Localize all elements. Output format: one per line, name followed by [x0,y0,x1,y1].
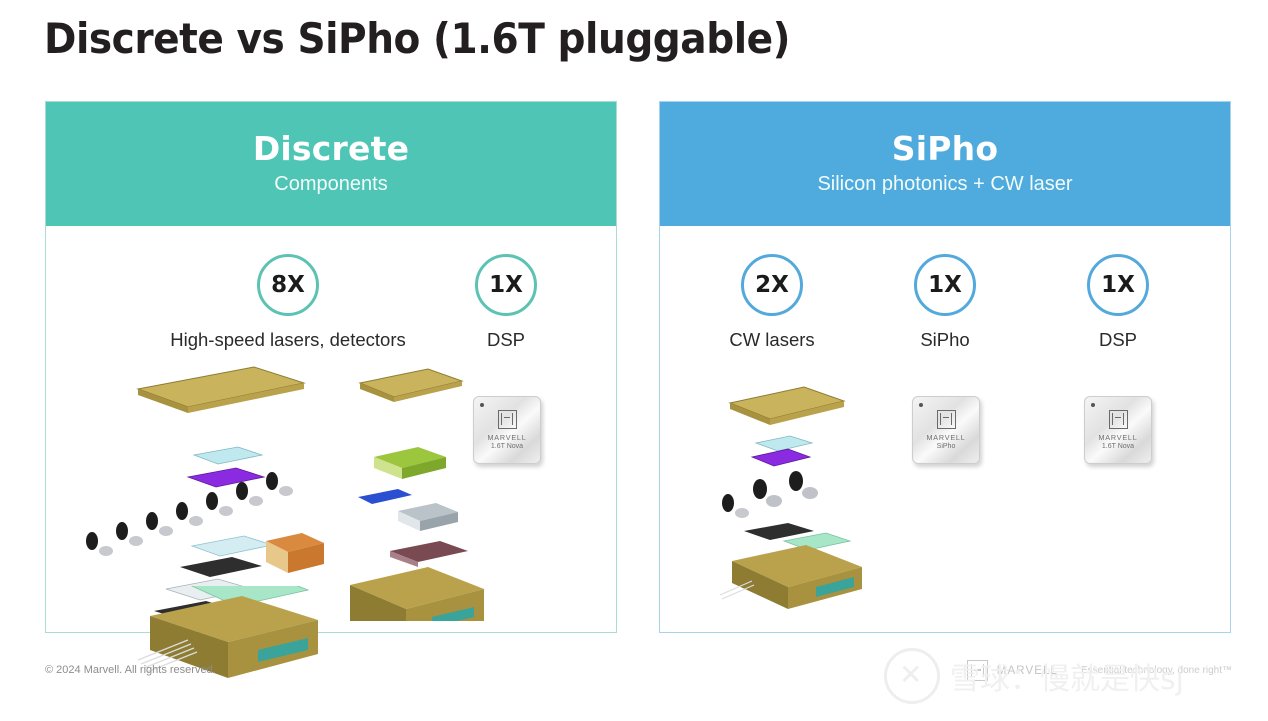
illustration-discrete-housing [136,586,336,696]
multiplier-badge-1x-dsp-sipho: 1X [1087,254,1149,316]
chip-brand: MARVELL [1098,433,1137,442]
multiplier-badge-1x-sipho: 1X [914,254,976,316]
panel-sipho-header: SiPho Silicon photonics + CW laser [660,102,1230,226]
column-sipho-dsp: 1X DSP [998,254,1238,351]
marvell-logo-icon [1109,410,1128,429]
column-label-dsp-sipho: DSP [998,329,1238,351]
panel-discrete: Discrete Components 8X High-speed lasers… [45,101,617,633]
panel-sipho-body: 2X CW lasers 1X SiPho 1X DSP MARVELL SiP… [660,226,1230,632]
column-discrete-dsp: 1X DSP [386,254,626,351]
brand-wordmark: MARVELL [997,665,1058,677]
panel-sipho: SiPho Silicon photonics + CW laser 2X CW… [659,101,1231,633]
multiplier-badge-2x: 2X [741,254,803,316]
panel-sipho-subtitle: Silicon photonics + CW laser [817,173,1072,196]
brand-tagline: Essential technology, done right™ [1081,665,1232,676]
panel-discrete-title: Discrete [253,132,409,167]
chip-marvell-nova-sipho: MARVELL 1.6T Nova [1084,396,1152,464]
chip-model: SiPho [937,443,956,450]
column-label-dsp: DSP [386,329,626,351]
marvell-brandbar: MARVELL Essential technology, done right… [967,660,1232,681]
chip-marvell-sipho: MARVELL SiPho [912,396,980,464]
illustration-discrete-subassembly [336,361,496,621]
chip-model: 1.6T Nova [1102,443,1134,450]
marvell-logo-icon [967,660,988,681]
marvell-logo-icon [937,410,956,429]
panel-discrete-body: 8X High-speed lasers, detectors 1X DSP M… [46,226,616,632]
panel-discrete-header: Discrete Components [46,102,616,226]
panel-sipho-title: SiPho [892,132,998,167]
page-title: Discrete vs SiPho (1.6T pluggable) [44,14,790,63]
illustration-cw-laser [708,381,888,611]
watermark-logo-icon: ✕ [884,648,940,704]
copyright-text: © 2024 Marvell. All rights reserved. [45,664,216,676]
column-label-lasers: High-speed lasers, detectors [168,329,408,351]
chip-brand: MARVELL [926,433,965,442]
multiplier-badge-8x: 8X [257,254,319,316]
marvell-logo-icon [498,410,517,429]
column-discrete-lasers: 8X High-speed lasers, detectors [168,254,408,351]
multiplier-badge-1x-dsp: 1X [475,254,537,316]
panel-discrete-subtitle: Components [274,173,387,196]
